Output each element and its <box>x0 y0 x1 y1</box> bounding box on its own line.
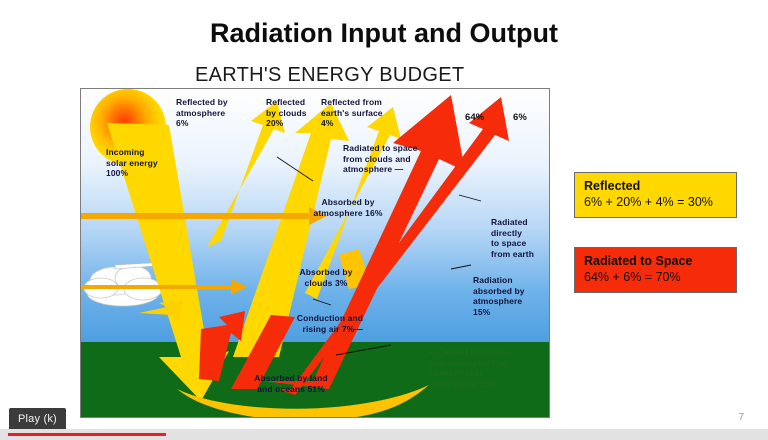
label-absorbed-atmosphere: Absorbed by atmosphere 16% <box>303 197 393 218</box>
label-radiation-absorbed-atmosphere: Radiation absorbed by atmosphere 15% <box>473 275 541 317</box>
legend-reflected-equation: 6% + 20% + 4% = 30% <box>584 194 727 210</box>
label-radiated-directly: Radiated directly to space from earth <box>491 217 550 259</box>
label-pct-64: 64% <box>465 113 484 124</box>
page-number: 7 <box>738 412 744 423</box>
label-conduction-rising-air: Conduction and rising air 7%— <box>271 313 363 334</box>
label-incoming-solar: Incoming solar energy 100% <box>106 147 166 179</box>
legend-radiated-to-space: Radiated to Space 64% + 6% = 70% <box>574 247 737 293</box>
label-reflected-clouds: Reflected by clouds 20% <box>266 97 321 129</box>
diagram-title: EARTH'S ENERGY BUDGET <box>195 64 464 87</box>
label-reflected-surface: Reflected from earth's surface 4% <box>321 97 391 129</box>
label-absorbed-clouds: Absorbed by clouds 3% <box>286 267 366 288</box>
energy-budget-illustration: Reflected by atmosphere 6% Reflected by … <box>80 88 550 418</box>
progress-bar-fill[interactable] <box>8 433 166 436</box>
legend-reflected: Reflected 6% + 20% + 4% = 30% <box>574 172 737 218</box>
label-reflected-atmosphere: Reflected by atmosphere 6% <box>176 97 240 129</box>
label-absorbed-land: Absorbed by land and oceans 51% <box>236 373 346 394</box>
label-radiated-space-clouds: Radiated to space from clouds and atmosp… <box>343 143 435 175</box>
legend-reflected-title: Reflected <box>584 178 727 194</box>
progress-bar-track[interactable] <box>0 429 768 440</box>
legend-radiated-equation: 64% + 6% = 70% <box>584 269 727 285</box>
legend-radiated-title: Radiated to Space <box>584 253 727 269</box>
label-latent-heat: —Carried to clouds and atmosphere by lat… <box>429 347 539 389</box>
label-pct-6: 6% <box>513 113 527 124</box>
page-title: Radiation Input and Output <box>0 18 768 49</box>
play-button-tooltip[interactable]: Play (k) <box>9 408 66 431</box>
slide-canvas: Radiation Input and Output EARTH'S ENERG… <box>0 0 768 425</box>
